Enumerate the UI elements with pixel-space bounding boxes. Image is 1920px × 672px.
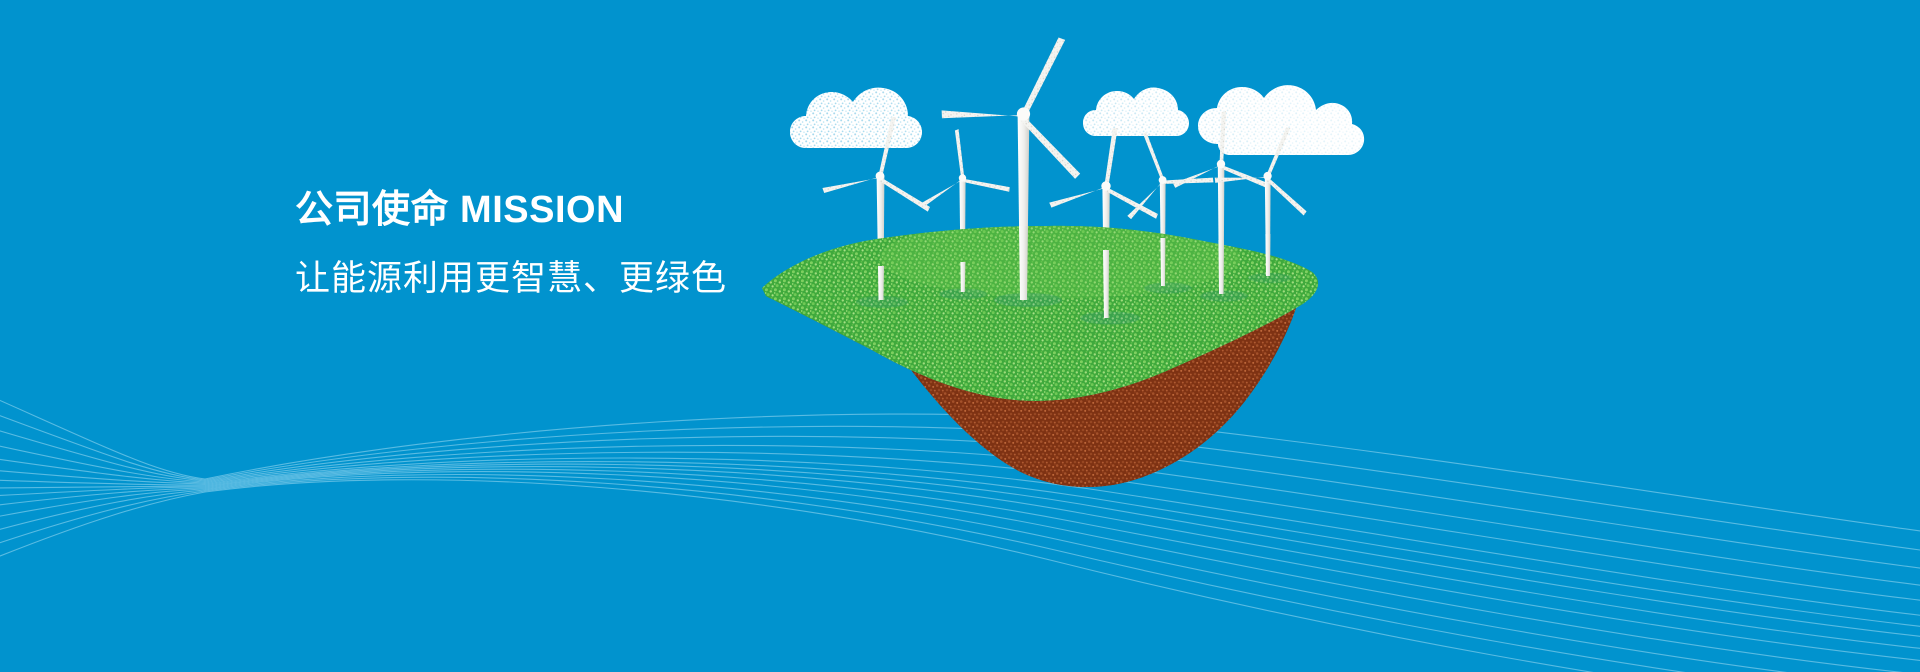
mission-text-block: 公司使命 MISSION 让能源利用更智慧、更绿色 xyxy=(295,186,995,300)
cloud-group xyxy=(790,85,1364,155)
turbine-3-tower-lower xyxy=(1019,226,1028,300)
floating-island-illustration xyxy=(0,0,1920,672)
turbine-6-tower-lower xyxy=(1218,240,1224,294)
page-title: 公司使命 MISSION xyxy=(295,186,995,235)
cloud-middle-icon xyxy=(1083,88,1189,136)
page-subtitle: 让能源利用更智慧、更绿色 xyxy=(295,235,995,301)
cloud-left-icon xyxy=(790,88,922,148)
mission-banner: 公司使命 MISSION 让能源利用更智慧、更绿色 xyxy=(0,0,1920,672)
turbine-4-tower-lower xyxy=(1103,250,1109,318)
turbine-7-tower-lower xyxy=(1265,234,1270,276)
turbine-5-tower-lower xyxy=(1160,238,1165,286)
